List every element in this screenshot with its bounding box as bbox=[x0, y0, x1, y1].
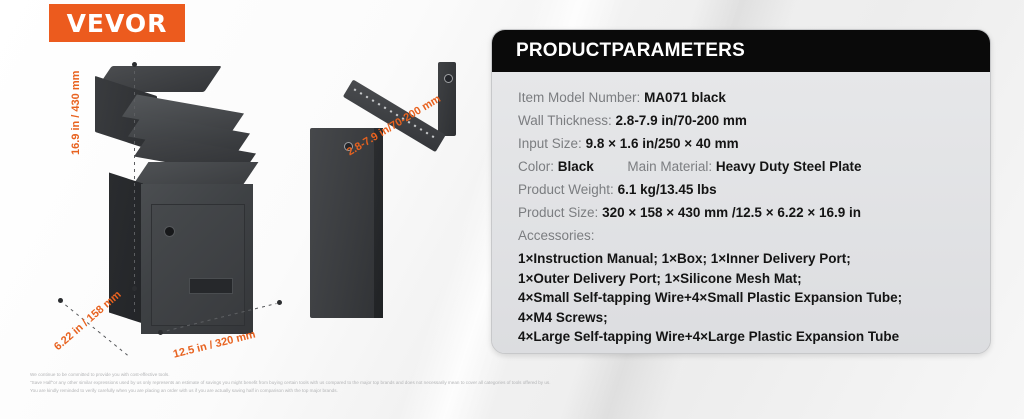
dimension-line-height bbox=[134, 64, 135, 312]
param-row-color-material: Color: Black Main Material: Heavy Duty S… bbox=[518, 155, 990, 178]
param-value: 6.1 kg/13.45 lbs bbox=[618, 182, 717, 197]
mailbox-nameplate-slot bbox=[189, 278, 233, 294]
param-label: Input Size: bbox=[518, 136, 582, 151]
param-value: 2.8-7.9 in/70-200 mm bbox=[616, 113, 747, 128]
dimension-label-height: 16.9 in / 430 mm bbox=[70, 71, 82, 155]
product-spec-page: VEVOR 16.9 in / 430 mm 6.22 in / 158 mm bbox=[0, 0, 1024, 419]
panel-body: Item Model Number: MA071 black Wall Thic… bbox=[492, 72, 990, 354]
param-row-model: Item Model Number: MA071 black bbox=[518, 86, 990, 109]
param-label: Item Model Number: bbox=[518, 90, 640, 105]
param-label: Product Weight: bbox=[518, 182, 614, 197]
panel-header: PRODUCTPARAMETERS bbox=[492, 30, 990, 72]
footer-disclaimer: We continue to be committed to provide y… bbox=[30, 371, 830, 396]
accessories-list: 1×Instruction Manual; 1×Box; 1×Inner Del… bbox=[518, 249, 990, 347]
param-row-product-size: Product Size: 320 × 158 × 430 mm /12.5 ×… bbox=[518, 201, 990, 224]
product-image-front bbox=[95, 58, 295, 323]
pivot-point-top bbox=[444, 74, 453, 83]
accessory-item: 4×M4 Screws; bbox=[518, 308, 990, 328]
param-label-color: Color: bbox=[518, 159, 554, 174]
dimension-endpoint bbox=[277, 300, 282, 305]
accessory-item: 4×Small Self-tapping Wire+4×Small Plasti… bbox=[518, 288, 990, 308]
footer-line-3: You are kindly reminded to verify carefu… bbox=[30, 387, 830, 395]
accessory-item: 1×Instruction Manual; 1×Box; 1×Inner Del… bbox=[518, 249, 990, 269]
lock-icon bbox=[164, 226, 175, 237]
vevor-logo: VEVOR bbox=[49, 4, 185, 42]
param-value-material: Heavy Duty Steel Plate bbox=[716, 159, 862, 174]
param-row-weight: Product Weight: 6.1 kg/13.45 lbs bbox=[518, 178, 990, 201]
param-label: Wall Thickness: bbox=[518, 113, 612, 128]
accessory-item: 1×Outer Delivery Port; 1×Silicone Mesh M… bbox=[518, 269, 990, 289]
product-parameters-panel: PRODUCTPARAMETERS Item Model Number: MA0… bbox=[491, 29, 991, 354]
mailbox-side-edge bbox=[374, 128, 383, 318]
param-row-input-size: Input Size: 9.8 × 1.6 in/250 × 40 mm bbox=[518, 132, 990, 155]
vevor-logo-text: VEVOR bbox=[67, 9, 168, 38]
param-value: 320 × 158 × 430 mm /12.5 × 6.22 × 16.9 i… bbox=[602, 205, 861, 220]
product-image-side bbox=[300, 60, 480, 325]
param-label-material: Main Material: bbox=[627, 159, 712, 174]
dimension-endpoint bbox=[132, 62, 137, 67]
mailbox-side-panel bbox=[310, 128, 376, 318]
param-value-color: Black bbox=[558, 159, 594, 174]
param-value: 9.8 × 1.6 in/250 × 40 mm bbox=[586, 136, 739, 151]
dimension-endpoint bbox=[58, 298, 63, 303]
param-label: Product Size: bbox=[518, 205, 598, 220]
footer-line-2: "Save Half"or any other similar expressi… bbox=[30, 379, 830, 387]
param-row-wall-thickness: Wall Thickness: 2.8-7.9 in/70-200 mm bbox=[518, 109, 990, 132]
accessories-label: Accessories: bbox=[518, 224, 990, 247]
panel-title: PRODUCTPARAMETERS bbox=[516, 40, 745, 62]
dimension-endpoint bbox=[132, 286, 137, 291]
footer-line-1: We continue to be committed to provide y… bbox=[30, 371, 830, 379]
accessory-item: 4×Large Self-tapping Wire+4×Large Plasti… bbox=[518, 327, 990, 347]
param-value: MA071 black bbox=[644, 90, 726, 105]
mailbox-door bbox=[151, 204, 245, 326]
dimension-endpoint bbox=[158, 330, 163, 335]
